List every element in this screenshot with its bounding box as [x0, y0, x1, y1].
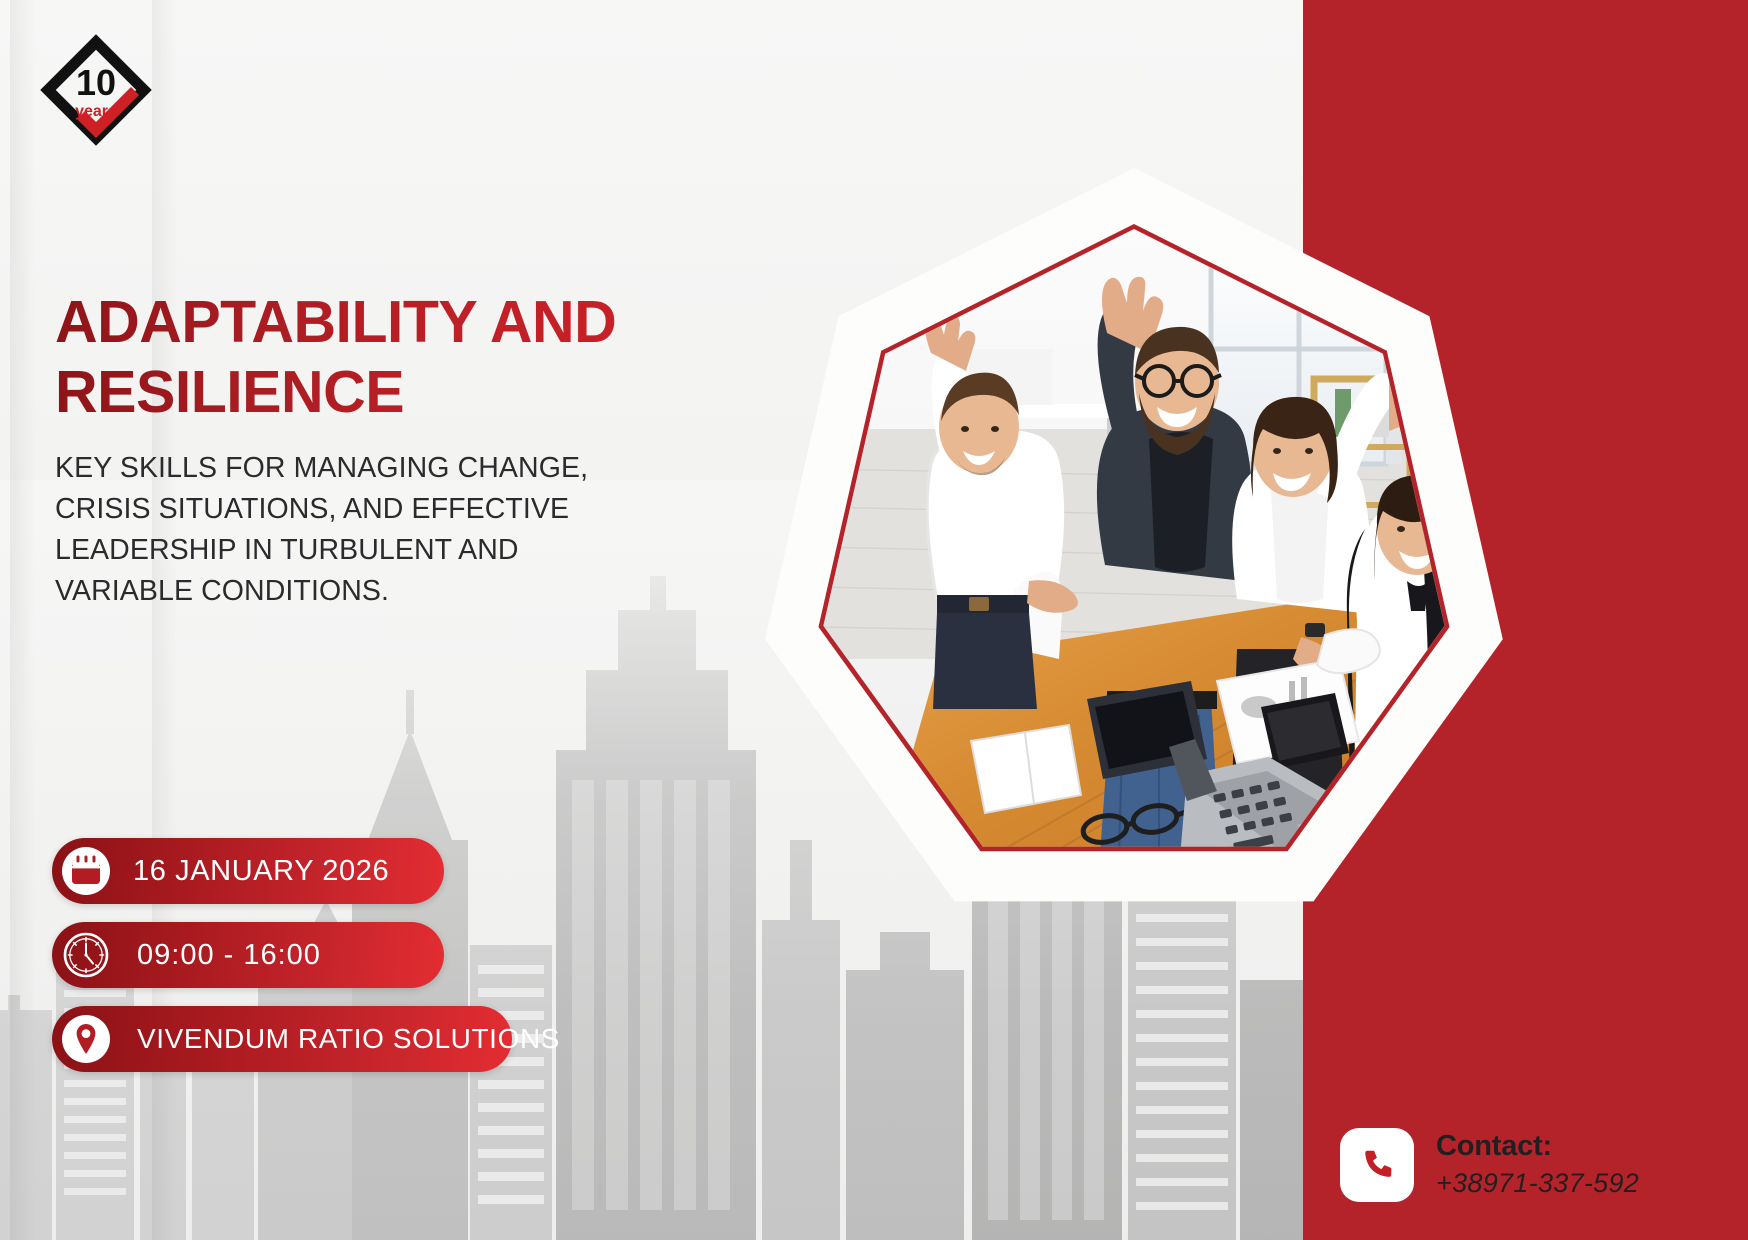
ten-years-anniversary-logo: 10 years	[36, 30, 156, 150]
location-pin-icon	[61, 1014, 111, 1064]
event-time-label: 09:00 - 16:00	[137, 939, 321, 972]
subtitle-line-2: CRISIS SITUATIONS, AND EFFECTIVE	[55, 489, 695, 530]
contact-text-group: Contact: +38971-337-592	[1436, 1130, 1639, 1199]
calendar-icon	[61, 846, 111, 896]
contact-title: Contact:	[1436, 1130, 1639, 1164]
logo-word: years	[75, 103, 117, 120]
phone-icon	[1340, 1128, 1414, 1202]
subtitle-line-1: KEY SKILLS FOR MANAGING CHANGE,	[55, 448, 695, 489]
event-date-pill[interactable]: 16 JANUARY 2026	[52, 838, 444, 904]
headline-line-1: ADAPTABILITY AND	[55, 289, 616, 355]
page-subtitle: KEY SKILLS FOR MANAGING CHANGE, CRISIS S…	[55, 448, 695, 612]
event-date-label: 16 JANUARY 2026	[133, 855, 389, 888]
event-location-label: VIVENDUM RATIO SOLUTIONS	[137, 1023, 560, 1055]
subtitle-line-4: VARIABLE CONDITIONS.	[55, 571, 695, 612]
event-location-pill[interactable]: VIVENDUM RATIO SOLUTIONS	[52, 1006, 512, 1072]
card-edge-shadow-left	[10, 0, 36, 1240]
contact-block[interactable]: Contact: +38971-337-592	[1340, 1128, 1639, 1202]
photo-frame	[760, 168, 1508, 928]
event-poster: 10 years ADAPTABILITY AND RESILIENCE KEY…	[0, 0, 1748, 1240]
logo-number: 10	[76, 62, 116, 103]
event-time-pill[interactable]: 09:00 - 16:00	[52, 922, 444, 988]
headline-line-2: RESILIENCE	[55, 358, 745, 428]
page-title: ADAPTABILITY AND RESILIENCE	[55, 288, 745, 427]
event-details-list: 16 JANUARY 2026	[52, 838, 512, 1090]
contact-phone-number[interactable]: +38971-337-592	[1436, 1167, 1639, 1199]
clock-icon	[61, 930, 111, 980]
subtitle-line-3: LEADERSHIP IN TURBULENT AND	[55, 530, 695, 571]
